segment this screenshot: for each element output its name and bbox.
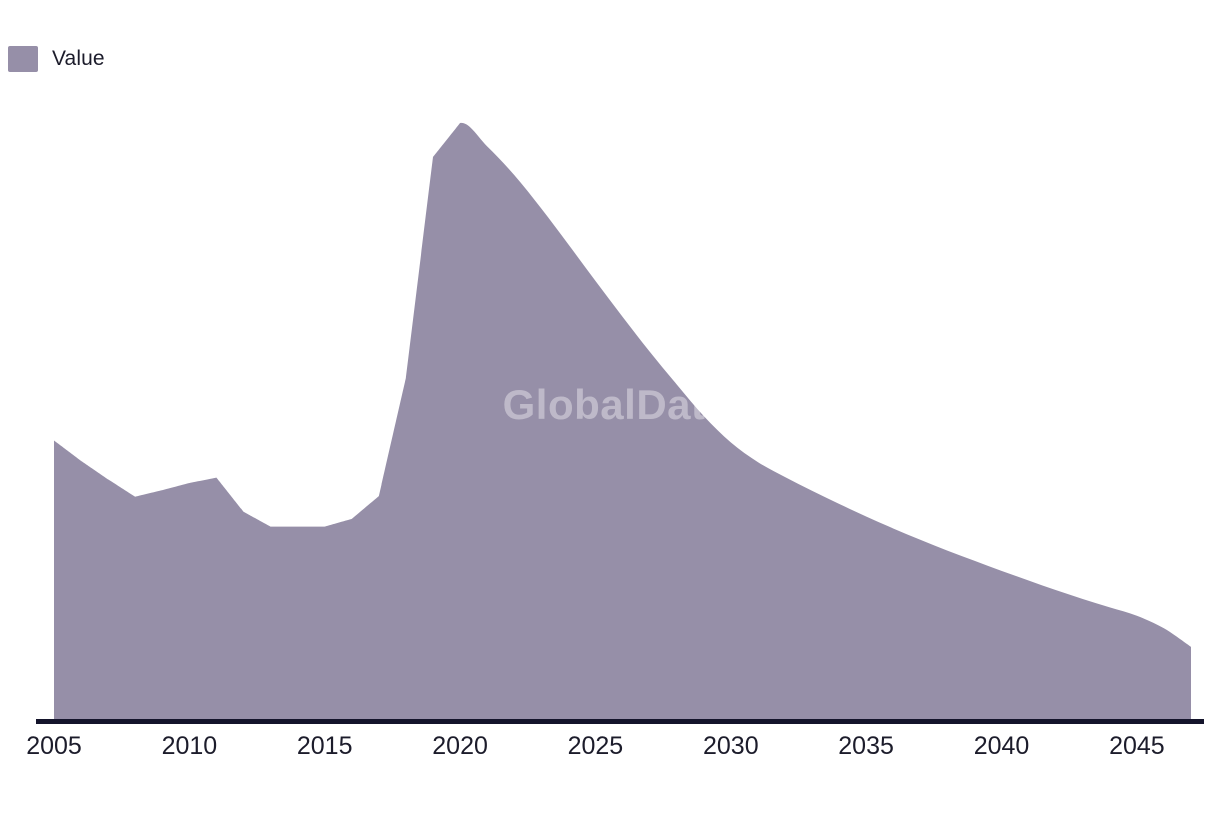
x-axis-tick-2025: 2025 (568, 729, 624, 763)
x-axis-tick-2020: 2020 (432, 729, 488, 763)
plot-area (0, 0, 1220, 816)
x-axis-tick-2005: 2005 (26, 729, 82, 763)
x-axis-tick-2035: 2035 (838, 729, 894, 763)
area-chart-figure: Value GlobalData 20052010201520202025203… (0, 0, 1220, 816)
x-axis-tick-labels: 200520102015202020252030203520402045 (0, 729, 1220, 769)
x-axis-tick-2015: 2015 (297, 729, 353, 763)
x-axis-tick-2045: 2045 (1109, 729, 1165, 763)
x-axis-tick-2010: 2010 (162, 729, 218, 763)
x-axis-tick-2030: 2030 (703, 729, 759, 763)
series-area-value (54, 123, 1191, 721)
x-axis-tick-2040: 2040 (974, 729, 1030, 763)
chart-svg (0, 0, 1220, 816)
